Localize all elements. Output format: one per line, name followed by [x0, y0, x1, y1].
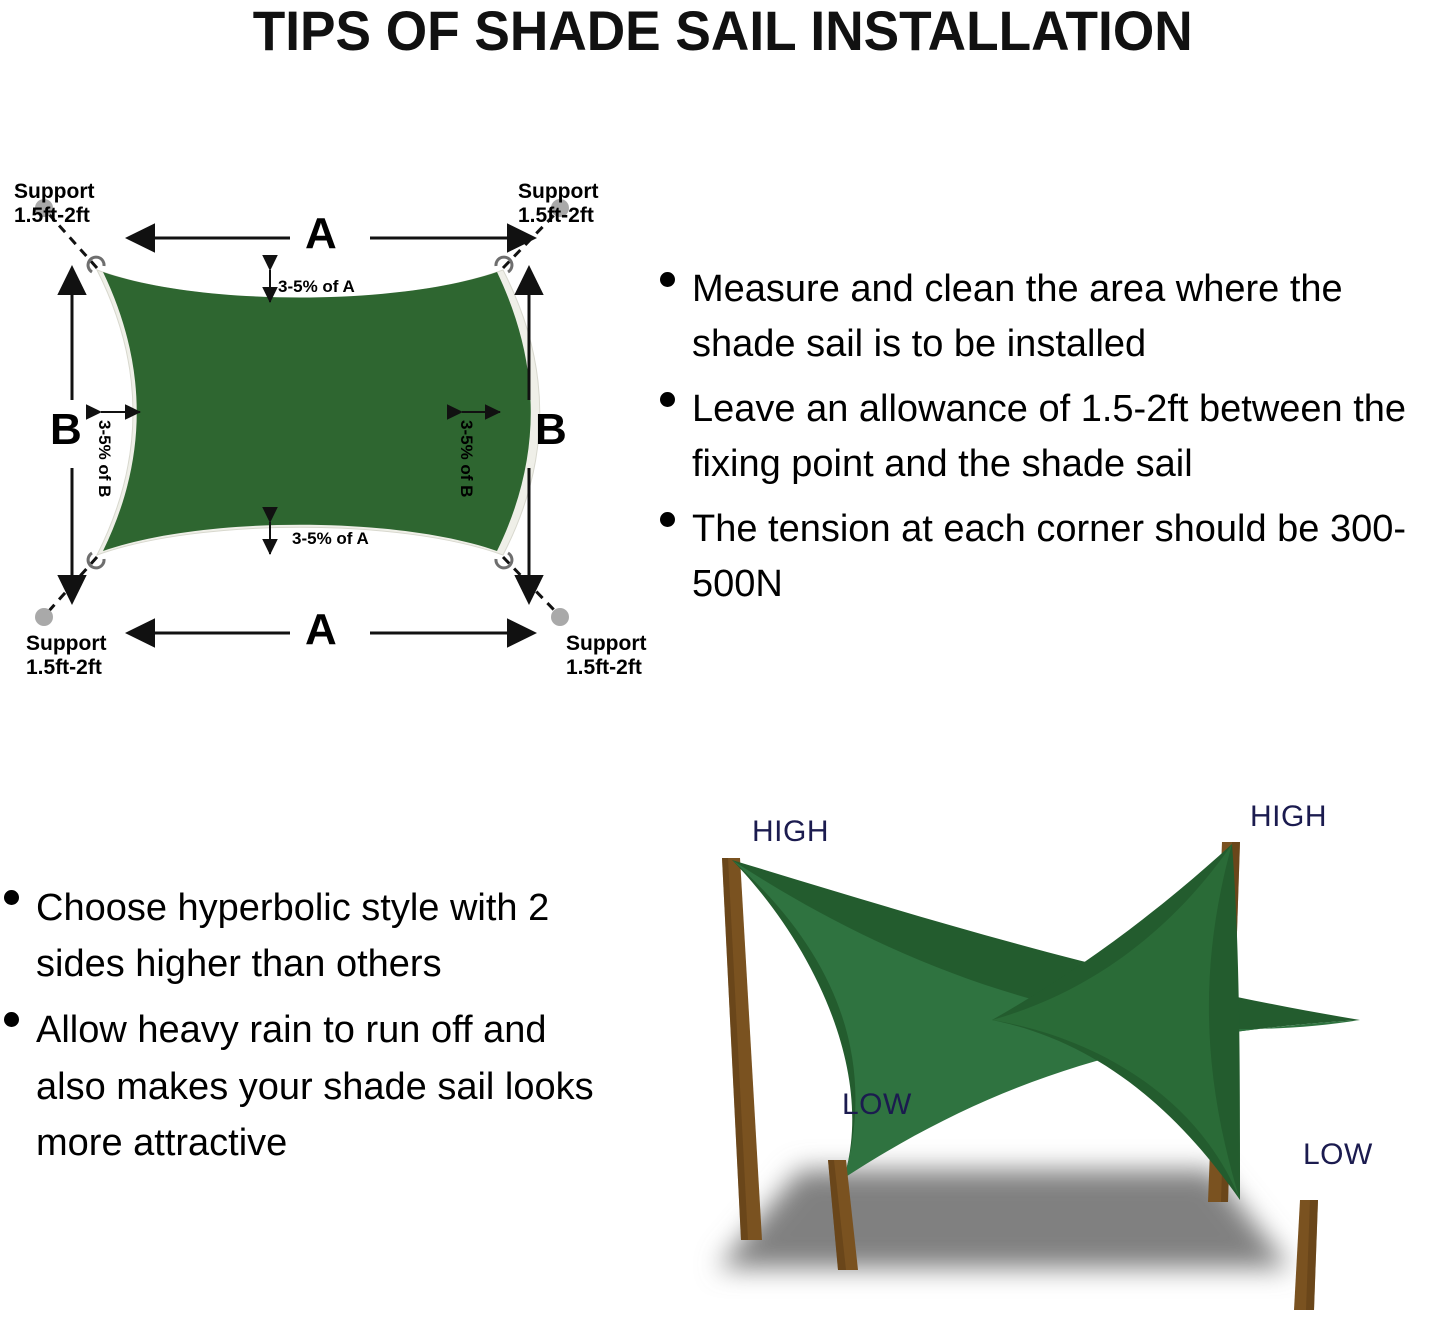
tips-item-text: The tension at each corner should be 300…	[692, 502, 1445, 612]
support-label-top-right-line2: 1.5ft-2ft	[518, 204, 598, 228]
list-item: The tension at each corner should be 300…	[648, 502, 1445, 612]
d-ring-top-right	[496, 257, 512, 272]
support-label-bottom-right: Support 1.5ft-2ft	[566, 632, 646, 679]
dim-letter-top-a: A	[305, 212, 337, 256]
curve-note-bottom: 3-5% of A	[292, 529, 369, 549]
support-label-top-left: Support 1.5ft-2ft	[14, 180, 94, 227]
support-dot-bottom-right	[551, 608, 569, 626]
post-high-left	[722, 858, 762, 1240]
hyperbolic-item-text: Allow heavy rain to run off and also mak…	[36, 1002, 620, 1171]
label-low-right: LOW	[1303, 1138, 1373, 1172]
support-label-bottom-left-line1: Support	[26, 632, 106, 656]
hyperbolic-illustration-panel: HIGH HIGH LOW LOW	[600, 770, 1445, 1319]
label-low-left: LOW	[842, 1088, 912, 1122]
tips-bullet-list: Measure and clean the area where the sha…	[648, 262, 1445, 613]
tips-list-panel: Measure and clean the area where the sha…	[648, 262, 1445, 682]
support-dot-bottom-left	[35, 608, 53, 626]
tips-item-text: Measure and clean the area where the sha…	[692, 262, 1445, 372]
label-high-left: HIGH	[752, 815, 829, 849]
label-high-right: HIGH	[1250, 800, 1327, 834]
list-item: Allow heavy rain to run off and also mak…	[0, 1002, 620, 1171]
d-ring-top-left	[88, 257, 104, 272]
support-label-top-left-line1: Support	[14, 180, 94, 204]
dim-letter-left-b: B	[50, 408, 82, 452]
bullet-dot-icon	[660, 392, 675, 407]
hyperbolic-sail-svg	[600, 770, 1445, 1319]
support-label-bottom-left: Support 1.5ft-2ft	[26, 632, 106, 679]
list-item: Choose hyperbolic style with 2 sides hig…	[0, 880, 620, 992]
curve-note-top: 3-5% of A	[278, 277, 355, 297]
bullet-dot-icon	[4, 890, 19, 905]
support-label-top-left-line2: 1.5ft-2ft	[14, 204, 94, 228]
hyperbolic-bullet-list: Choose hyperbolic style with 2 sides hig…	[0, 880, 620, 1171]
curve-note-right: 3-5% of B	[456, 420, 476, 497]
curve-note-left: 3-5% of B	[94, 420, 114, 497]
list-item: Measure and clean the area where the sha…	[648, 262, 1445, 372]
bullet-dot-icon	[660, 512, 675, 527]
bullet-dot-icon	[4, 1012, 19, 1027]
title-bar: TIPS OF SHADE SAIL INSTALLATION	[0, 0, 1445, 62]
hyperbolic-list-panel: Choose hyperbolic style with 2 sides hig…	[0, 880, 620, 1210]
dim-letter-right-b: B	[535, 408, 567, 452]
d-ring-bottom-left	[88, 553, 104, 568]
support-label-bottom-right-line2: 1.5ft-2ft	[566, 656, 646, 680]
support-label-top-right-line1: Support	[518, 180, 598, 204]
list-item: Leave an allowance of 1.5-2ft between th…	[648, 382, 1445, 492]
post-low-right	[1294, 1200, 1318, 1310]
rect-sail-diagram: Support 1.5ft-2ft Support 1.5ft-2ft Supp…	[0, 150, 660, 740]
support-label-top-right: Support 1.5ft-2ft	[518, 180, 598, 227]
tips-item-text: Leave an allowance of 1.5-2ft between th…	[692, 382, 1445, 492]
support-label-bottom-left-line2: 1.5ft-2ft	[26, 656, 106, 680]
bullet-dot-icon	[660, 272, 675, 287]
ground-shadow	[718, 1170, 1290, 1268]
hyperbolic-item-text: Choose hyperbolic style with 2 sides hig…	[36, 880, 620, 992]
page-title: TIPS OF SHADE SAIL INSTALLATION	[253, 3, 1193, 59]
support-label-bottom-right-line1: Support	[566, 632, 646, 656]
d-ring-bottom-right	[496, 553, 512, 568]
dim-letter-bottom-a: A	[305, 608, 337, 652]
